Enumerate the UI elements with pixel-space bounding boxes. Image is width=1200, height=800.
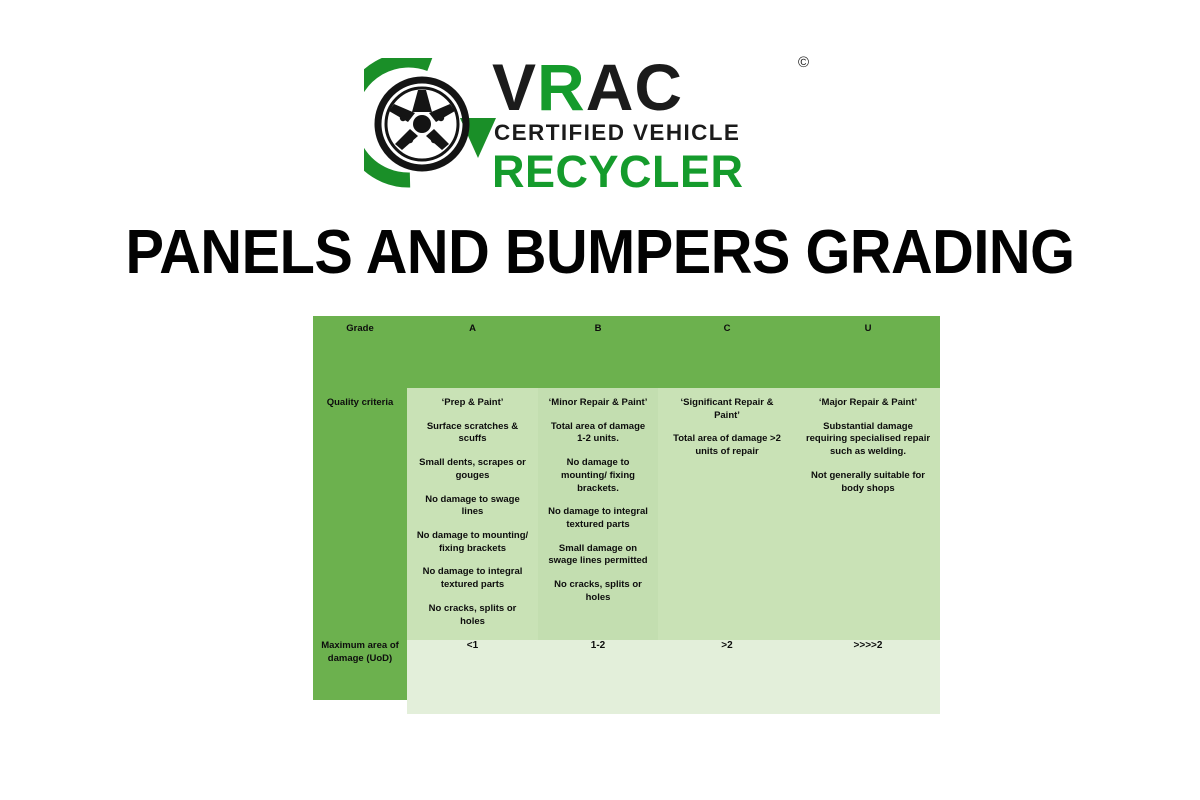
criteria-item: No cracks, splits or holes [416, 603, 529, 628]
brand-letters-ac: AC [586, 50, 683, 124]
footer-spacer [796, 700, 940, 714]
brand-logo: VRAC © CERTIFIED VEHICLE RECYCLER [0, 48, 1200, 203]
header-grade-a: A [407, 316, 538, 388]
table-header-row: Grade A B C U [313, 316, 940, 388]
row-label-quality-criteria: Quality criteria [313, 388, 407, 640]
criteria-item: No damage to mounting/ fixing brackets [416, 530, 529, 555]
copyright-icon: © [798, 54, 809, 71]
criteria-cell-a: ‘Prep & Paint’ Surface scratches & scuff… [407, 388, 538, 640]
header-grade-c: C [658, 316, 796, 388]
max-area-value-c: >2 [658, 640, 796, 700]
max-area-value-b: 1-2 [538, 640, 658, 700]
criteria-item: No damage to integral textured parts [547, 506, 649, 531]
criteria-cell-u: ‘Major Repair & Paint’ Substantial damag… [796, 388, 940, 640]
table-row-quality-criteria: Quality criteria ‘Prep & Paint’ Surface … [313, 388, 940, 640]
criteria-item: Small damage on swage lines permitted [547, 543, 649, 568]
grading-table: Grade A B C U Quality criteria ‘Prep & P… [313, 316, 940, 714]
criteria-item: No damage to swage lines [416, 494, 529, 519]
criteria-item: No damage to integral textured parts [416, 566, 529, 591]
header-grade-u: U [796, 316, 940, 388]
footer-spacer [658, 700, 796, 714]
criteria-heading-b: ‘Minor Repair & Paint’ [547, 397, 649, 410]
vrac-recycle-wheel-logo-icon [364, 58, 496, 190]
max-area-value-u: >>>>2 [796, 640, 940, 700]
footer-spacer [407, 700, 538, 714]
criteria-item: No cracks, splits or holes [547, 579, 649, 604]
criteria-cell-c: ‘Significant Repair & Paint’ Total area … [658, 388, 796, 640]
criteria-heading-u: ‘Major Repair & Paint’ [805, 397, 931, 410]
page-title: PANELS AND BUMPERS GRADING [42, 222, 1158, 284]
footer-spacer [313, 700, 407, 714]
criteria-item: No damage to mounting/ fixing brackets. [547, 457, 649, 495]
criteria-item: Not generally suitable for body shops [805, 470, 931, 495]
criteria-cell-b: ‘Minor Repair & Paint’ Total area of dam… [538, 388, 658, 640]
table-footer-strip [313, 700, 940, 714]
criteria-item: Total area of damage 1-2 units. [547, 421, 649, 446]
header-grade-b: B [538, 316, 658, 388]
footer-spacer [538, 700, 658, 714]
criteria-item: Substantial damage requiring specialised… [805, 421, 931, 459]
header-grade-label: Grade [313, 316, 407, 388]
row-label-maximum-area: Maximum area of damage (UoD) [313, 640, 407, 700]
max-area-value-a: <1 [407, 640, 538, 700]
criteria-item: Surface scratches & scuffs [416, 421, 529, 446]
criteria-item: Total area of damage >2 units of repair [667, 433, 787, 458]
criteria-item: Small dents, scrapes or gouges [416, 457, 529, 482]
criteria-heading-c: ‘Significant Repair & Paint’ [667, 397, 787, 422]
criteria-heading-a: ‘Prep & Paint’ [416, 397, 529, 410]
brand-subtitle: CERTIFIED VEHICLE [494, 120, 740, 146]
brand-letter-r: R [537, 50, 586, 124]
brand-wordmark: VRAC [492, 54, 683, 120]
table-row-maximum-area: Maximum area of damage (UoD) <1 1-2 >2 >… [313, 640, 940, 700]
brand-recycler-word: RECYCLER [492, 146, 744, 198]
brand-letter-v: V [492, 50, 537, 124]
